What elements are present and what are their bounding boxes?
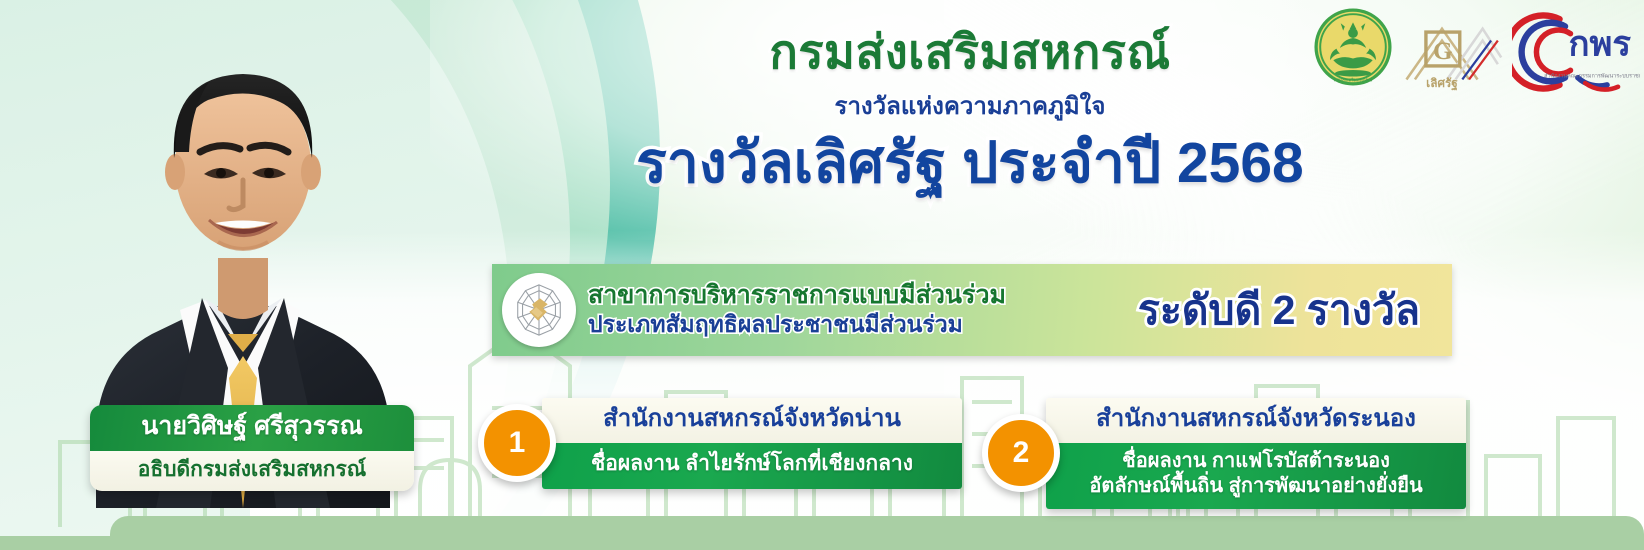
plaque-role-bar: อธิบดีกรมส่งเสริมสหกรณ์ [90, 451, 414, 491]
award-work-title-2a: ชื่อผลงาน กาแฟโรบัสต้าระนอง [1056, 449, 1456, 475]
category-branch-label: สาขาการบริหารราชการแบบมีส่วนร่วม [588, 281, 1006, 310]
cooperative-promotion-department-seal: กรมส่งเสริมสหกรณ์ [1312, 6, 1394, 88]
opdc-logo: กพร สำนักงานคณะกรรมการพัฒนาระบบราชการ [1512, 6, 1640, 98]
award-number-badge-2: 2 [982, 414, 1060, 492]
director-name-plaque: นายวิศิษฐ์ ศรีสุวรรณ อธิบดีกรมส่งเสริมสห… [90, 405, 414, 491]
award-item-1: 1 สำนักงานสหกรณ์จังหวัดน่าน ชื่อผลงาน ลำ… [478, 398, 962, 489]
award-banner: กรมส่งเสริมสหกรณ์ รางวัลแห่งความภาคภูมิใ… [0, 0, 1644, 550]
award-card-header-1: สำนักงานสหกรณ์จังหวัดน่าน [542, 398, 962, 443]
award-card-2: สำนักงานสหกรณ์จังหวัดระนอง ชื่อผลงาน กาแ… [1046, 398, 1466, 509]
award-card-1: สำนักงานสหกรณ์จังหวัดน่าน ชื่อผลงาน ลำไย… [542, 398, 962, 489]
award-item-2: 2 สำนักงานสหกรณ์จังหวัดระนอง ชื่อผลงาน ก… [982, 398, 1466, 509]
logo-group: กรมส่งเสริมสหกรณ์ G เลิศรัฐ [1312, 6, 1640, 98]
award-number-badge-1: 1 [478, 404, 556, 482]
award-organization-1: สำนักงานสหกรณ์จังหวัดน่าน [552, 405, 952, 434]
award-work-title-1: ชื่อผลงาน ลำไยรักษ์โลกที่เชียงกลาง [552, 451, 952, 478]
category-text-block: สาขาการบริหารราชการแบบมีส่วนร่วม ประเภทส… [588, 281, 1006, 339]
director-name: นายวิศิษฐ์ ศรีสุวรรณ [100, 412, 404, 442]
svg-text:G: G [1433, 37, 1453, 65]
bottom-edge-bar [0, 536, 1644, 550]
category-type-label: ประเภทสัมฤทธิผลประชาชนมีส่วนร่วม [588, 311, 1006, 339]
svg-text:กพร: กพร [1568, 26, 1631, 64]
award-work-title-2b: อัตลักษณ์พื้นถิ่น สู่การพัฒนาอย่างยั่งยื… [1056, 474, 1456, 500]
award-card-body-2: ชื่อผลงาน กาแฟโรบัสต้าระนอง อัตลักษณ์พื้… [1046, 443, 1466, 509]
svg-text:สำนักงานคณะกรรมการพัฒนาระบบราช: สำนักงานคณะกรรมการพัฒนาระบบราชการ [1544, 73, 1640, 80]
award-card-header-2: สำนักงานสหกรณ์จังหวัดระนอง [1046, 398, 1466, 443]
svg-text:เลิศรัฐ: เลิศรัฐ [1426, 76, 1458, 91]
director-role: อธิบดีกรมส่งเสริมสหกรณ์ [100, 457, 404, 482]
award-level-badge: ระดับดี 2 รางวัล [1138, 278, 1420, 343]
award-category-bar: สาขาการบริหารราชการแบบมีส่วนร่วม ประเภทส… [492, 264, 1452, 356]
category-icon-frame [502, 273, 576, 347]
lert-rath-award-logo: G เลิศรัฐ [1398, 6, 1508, 92]
award-organization-2: สำนักงานสหกรณ์จังหวัดระนอง [1056, 405, 1456, 434]
participation-handshake-icon [510, 281, 568, 339]
award-card-body-1: ชื่อผลงาน ลำไยรักษ์โลกที่เชียงกลาง [542, 443, 962, 489]
svg-text:กรมส่งเสริมสหกรณ์: กรมส่งเสริมสหกรณ์ [1334, 76, 1373, 82]
page-title: รางวัลเลิศรัฐ ประจำปี 2568 [470, 131, 1470, 196]
plaque-name-bar: นายวิศิษฐ์ ศรีสุวรรณ [90, 405, 414, 451]
